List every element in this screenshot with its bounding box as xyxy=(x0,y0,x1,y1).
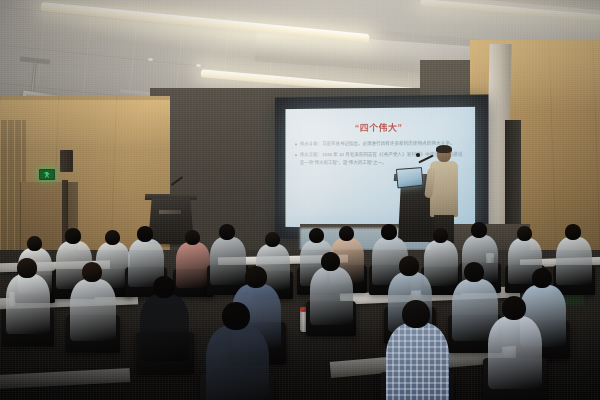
audience-member-torso xyxy=(310,267,353,325)
audience-member-head xyxy=(222,302,250,330)
audience-member-head xyxy=(517,226,532,241)
audience-member-head xyxy=(339,226,354,241)
audience-member-head xyxy=(65,228,81,244)
audience-member-head xyxy=(471,222,487,238)
audience-member-plaid-shirt xyxy=(386,323,449,400)
audience-member-head xyxy=(433,228,448,243)
audience-member-head xyxy=(245,266,267,288)
bullet-dot-icon xyxy=(295,143,297,145)
audience-member xyxy=(6,258,50,337)
audience-member-head xyxy=(402,300,430,328)
audience-member-torso xyxy=(6,274,50,334)
audience-member-torso xyxy=(70,279,116,341)
running-person-exit-icon xyxy=(44,172,50,178)
audience-member-head xyxy=(532,268,552,288)
audience-member xyxy=(206,302,269,400)
audience-member-head xyxy=(185,230,200,245)
audience-member-head xyxy=(399,256,419,276)
exit-sign xyxy=(39,169,55,180)
audience-member-head xyxy=(565,224,581,240)
lectern-name-plate xyxy=(159,210,181,214)
slide-title: “四个伟大” xyxy=(285,120,475,135)
ceiling-downlight-2 xyxy=(196,64,201,67)
audience-member-head xyxy=(27,236,42,251)
audience-member-head xyxy=(309,228,324,243)
audience-member-head xyxy=(464,262,484,282)
conference-room-photo: “四个伟大” 伟大斗争：习近平总书记指出，必须进行具有许多新的历史特点的伟大斗争… xyxy=(0,0,600,400)
audience-member-torso xyxy=(140,294,189,361)
wall-sign-plate xyxy=(42,155,50,160)
audience-member-torso xyxy=(206,325,269,400)
presenter-hair xyxy=(436,145,452,153)
audience-member xyxy=(386,300,449,400)
bullet-dot-icon xyxy=(295,154,297,156)
audience-member-head xyxy=(219,224,235,240)
audience-member-head xyxy=(82,262,102,282)
audience-member-head xyxy=(265,232,280,247)
audience-member-head xyxy=(153,276,175,298)
audience-member-head xyxy=(17,258,37,278)
laptop-icon xyxy=(396,167,423,188)
audience-member-torso xyxy=(488,316,542,390)
audience-member-head xyxy=(321,252,340,271)
ceiling-downlight-1 xyxy=(148,58,153,61)
audience-member xyxy=(140,276,189,364)
audience-member-head xyxy=(381,224,397,240)
audience-member-head xyxy=(105,230,120,245)
microphone-head xyxy=(416,153,420,157)
audience-member-head xyxy=(502,296,526,320)
audience-member-head xyxy=(137,226,153,242)
audience-member xyxy=(70,262,116,344)
wall-loudspeaker xyxy=(60,150,73,172)
audience-member xyxy=(488,296,542,394)
audience-member xyxy=(310,252,353,328)
